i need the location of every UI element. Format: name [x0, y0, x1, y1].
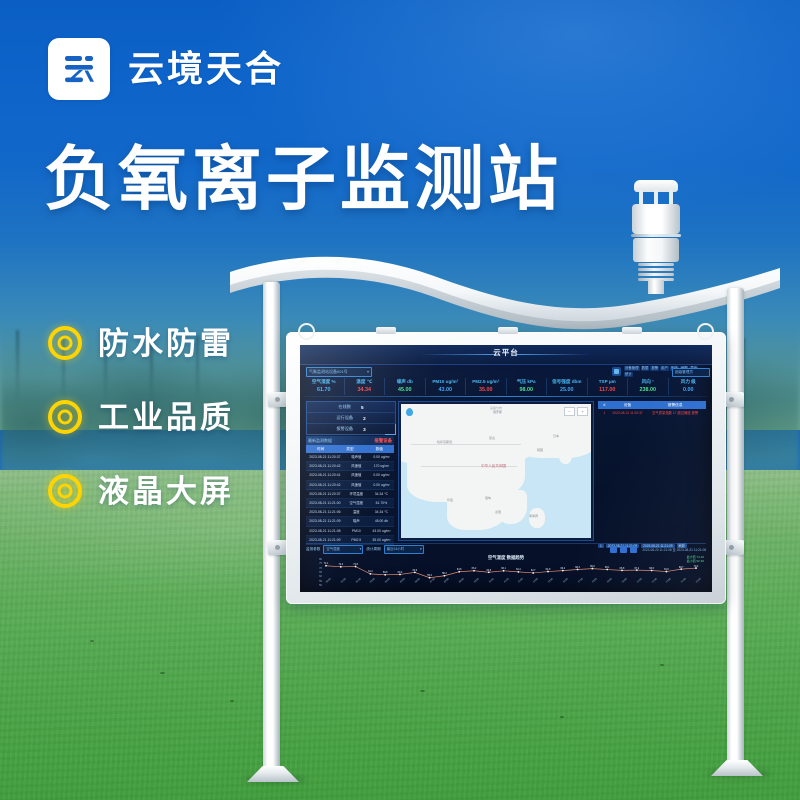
table-cell: 2023-08-21 11:20:41: [306, 471, 344, 479]
column-header: 时间: [306, 445, 335, 453]
alarm-table-body[interactable]: 12023-08-21 11:20:37空气质量指数 17 超过阈值 报警: [598, 409, 706, 539]
metric-cell: 风力 级 0.00: [669, 378, 709, 395]
bezel-tab: [498, 327, 518, 334]
period-select-value: 最近24小时: [387, 547, 404, 551]
param-select-value: 空气湿度: [326, 547, 340, 551]
range-week-button[interactable]: [620, 546, 627, 553]
table-cell: 2023-08-21 11:21:09: [306, 517, 344, 525]
status-value: 2: [363, 416, 366, 421]
metric-value: 45.00: [385, 386, 425, 395]
bezel-tab: [622, 327, 642, 334]
point-value-label: 69.6: [590, 565, 595, 568]
dashboard-title: 云平台: [300, 347, 712, 358]
point-value-label: 59.8: [383, 571, 388, 574]
table-cell: 45.00 db: [369, 517, 394, 525]
corner-accent: [385, 424, 396, 435]
sensor-shield-fin: [638, 263, 674, 266]
table-cell: 61.70%: [369, 499, 394, 507]
point-value-label: 72.8: [353, 563, 358, 566]
account-select[interactable]: 超级管理员: [672, 368, 710, 377]
bezel-tab: [376, 327, 396, 334]
table-row[interactable]: 2023-08-21 11:20:41风速值0.00 ug/m³: [306, 471, 394, 480]
station-select[interactable]: 气象监测站设备001号 ▾: [306, 367, 372, 377]
left-table-header: 时间 类型 数值: [306, 445, 394, 453]
table-cell: 170 ug/m³: [369, 462, 394, 470]
metric-label: 噪声 db: [385, 378, 425, 386]
support-post-right: [727, 288, 744, 774]
map-region-label: 蒙古: [489, 436, 495, 440]
point-value-label: 58.3: [442, 572, 447, 575]
monitoring-station-kiosk: 云平台 气象监测站设备001号 ▾ 设备管理 数据 报警 用户 系统 地图 导出…: [0, 0, 800, 800]
table-cell: 噪声值: [344, 453, 369, 461]
status-label: 在线数: [338, 404, 351, 410]
metric-label: 风向 °: [628, 378, 668, 386]
map-pin-icon[interactable]: [406, 408, 413, 416]
table-row[interactable]: 2023-08-21 11:21:08PM1043.00 ug/m³: [306, 527, 394, 536]
product-poster: 云境天合 负氧离子监测站 防水防雷 工业品质 液晶大屏: [0, 0, 800, 800]
map-region-label: 日本: [553, 434, 559, 438]
map-region-label: 韩国: [537, 448, 543, 452]
chart-stat-min: 最小值 52.30: [687, 559, 704, 563]
point-value-label: 64.4: [516, 568, 521, 571]
chart-plot-area: [322, 560, 700, 582]
header-chip[interactable]: 报警: [650, 366, 659, 371]
range-day-button[interactable]: [610, 546, 617, 553]
table-cell: 空气湿度: [344, 499, 369, 507]
status-label: 报警设备: [336, 426, 353, 432]
metric-cell: TSP μm 117.00: [588, 378, 629, 395]
zoom-in-button[interactable]: +: [577, 407, 588, 416]
metric-label: 温度 ℃: [345, 378, 385, 386]
alarm-cell: 空气质量指数 17 超过阈值 报警: [644, 409, 706, 417]
base-footing: [711, 760, 763, 776]
table-cell: 34.34 ℃: [369, 508, 394, 516]
metric-label: 气压 kPa: [507, 378, 547, 386]
period-select[interactable]: 最近24小时 ▾: [384, 545, 424, 554]
status-row: 运行设备 2: [307, 413, 395, 424]
table-cell: 2023-08-21 11:21:08: [306, 527, 344, 535]
table-row[interactable]: 2023-08-21 11:20:37噪声值0.00 ug/m³: [306, 453, 394, 462]
ultrasonic-weather-sensor: [628, 180, 684, 288]
table-cell: 2023-08-21 11:20:42: [306, 481, 344, 489]
metric-label: 风力 级: [669, 378, 709, 386]
metric-value: 98.00: [507, 386, 547, 395]
zoom-out-button[interactable]: −: [564, 407, 575, 416]
point-value-label: 68.1: [605, 566, 610, 569]
header-chip[interactable]: 数据: [641, 366, 650, 371]
point-value-label: 68.7: [679, 566, 684, 569]
chevron-down-icon: ▾: [367, 368, 369, 376]
table-cell: 2023-08-21 11:20:37: [306, 490, 344, 498]
metric-value: 117.00: [588, 386, 628, 395]
point-value-label: 64.9: [546, 568, 551, 571]
table-cell: 34.34 ℃: [369, 490, 394, 498]
chart-x-axis: 00:0001:0002:0003:0004:0005:0006:0007:00…: [322, 582, 700, 589]
chart-range-text: 2023-08-20 11:21:08 至 2023-08-21 11:21:0…: [642, 547, 706, 552]
left-table-body[interactable]: 2023-08-21 11:20:37噪声值0.00 ug/m³2023-08-…: [306, 453, 394, 545]
metric-value: 0.00: [669, 386, 709, 395]
point-value-label: 63.8: [486, 569, 491, 572]
column-header: 类型: [335, 445, 364, 453]
period-label: 统计周期: [366, 547, 380, 552]
status-value: 5: [361, 405, 364, 410]
metric-label: PM10 ug/m³: [426, 378, 466, 386]
table-cell: 风速值: [344, 462, 369, 470]
metric-label: TSP μm: [588, 378, 628, 386]
map-region-label: 哈萨克斯坦: [437, 440, 452, 444]
left-table-title: 最新监测数据: [308, 438, 332, 444]
metric-label: PM2.5 ug/m³: [466, 378, 506, 386]
param-label: 监测参数: [306, 547, 320, 552]
column-header: 数值: [365, 445, 394, 453]
table-cell: 0.00 ug/m³: [369, 471, 394, 479]
left-table-caption: 最新监测数据 报警设备: [306, 436, 394, 445]
status-label: 运行设备: [336, 415, 353, 421]
map-region-label: 菲律宾: [529, 514, 538, 518]
table-cell: 温度: [344, 508, 369, 516]
table-cell: 环境温度: [344, 490, 369, 498]
bezel-hook-icon: [298, 323, 315, 340]
header-chip[interactable]: 统计: [624, 372, 633, 377]
metric-cell: 信号强度 dbm 25.00: [547, 378, 588, 395]
table-cell: 风速值: [344, 481, 369, 489]
map-country-label: 中华人民共和国: [481, 464, 506, 469]
point-value-label: 67.2: [634, 567, 639, 570]
point-value-label: 66.8: [620, 567, 625, 570]
table-cell: 0.00 ug/m³: [369, 453, 394, 461]
metric-cell: 噪声 db 45.00: [385, 378, 426, 395]
chevron-down-icon: ▾: [420, 546, 422, 553]
dashboard-screen[interactable]: 云平台 气象监测站设备001号 ▾ 设备管理 数据 报警 用户 系统 地图 导出…: [300, 345, 712, 592]
point-value-label: 66.4: [560, 567, 565, 570]
table-row[interactable]: 2023-08-21 11:20:42风速值170 ug/m³: [306, 462, 394, 471]
table-row[interactable]: 2023-08-21 11:20:42风速值0.00 ug/m³: [306, 481, 394, 490]
map-region-label: 印度: [447, 498, 453, 502]
station-select-value: 气象监测站设备001号: [309, 369, 348, 374]
table-row[interactable]: 2023-08-21 11:21:06温度34.34 ℃: [306, 508, 394, 517]
metric-label: 空气湿度 %: [304, 378, 344, 386]
point-value-label: 55.2: [427, 574, 432, 577]
table-cell: 噪声: [344, 517, 369, 525]
chart-y-axis: 80757065605550: [312, 558, 322, 584]
table-row[interactable]: 2023-08-21 11:21:09噪声45.00 db: [306, 517, 394, 526]
alarm-badge: 报警设备: [374, 438, 392, 444]
sensor-ring: [631, 234, 681, 237]
point-value-label: 66.1: [501, 567, 506, 570]
metric-cell: 气压 kPa 98.00: [507, 378, 548, 395]
metric-value: 61.70: [304, 386, 344, 395]
metric-label: 信号强度 dbm: [547, 378, 587, 386]
status-row: 在线数 5: [307, 402, 395, 413]
point-value-label: 66.6: [649, 567, 654, 570]
alarm-table-header: # 设备 报警信息: [598, 401, 706, 409]
point-value-label: 74.1: [324, 562, 329, 565]
metric-value: 238.00: [628, 386, 668, 395]
table-cell: 2023-08-21 11:20:37: [306, 453, 344, 461]
column-header: 报警信息: [644, 401, 706, 409]
point-value-label: 68.2: [575, 566, 580, 569]
map-border-line: [411, 444, 521, 445]
point-value-label: 72.4: [338, 563, 343, 566]
map-region-label: 泰国: [495, 510, 501, 514]
alarm-cell: 2023-08-21 11:20:37: [611, 409, 644, 417]
table-cell: 2023-08-21 11:21:00: [306, 499, 344, 507]
metric-value: 35.00: [466, 386, 506, 395]
table-cell: PM10: [344, 527, 369, 535]
landmass: [497, 490, 527, 524]
trend-chart-panel: 监测参数 空气湿度 ▾ 统计周期 最近24小时 ▾ 2023-08-20 11:…: [306, 543, 706, 589]
table-cell: 2023-08-21 11:21:06: [306, 508, 344, 516]
landmass: [529, 508, 545, 528]
point-value-label: 64.6: [457, 568, 462, 571]
metric-value: 25.00: [547, 386, 587, 395]
status-row: 报警设备 3: [307, 424, 395, 434]
column-header: 设备: [611, 401, 644, 409]
base-footing: [247, 766, 299, 782]
sensor-shield-fin: [638, 268, 674, 271]
user-icon[interactable]: [612, 367, 621, 376]
support-post-left: [263, 282, 280, 774]
point-value-label: 66.2: [472, 567, 477, 570]
range-month-button[interactable]: [630, 546, 637, 553]
map-canvas[interactable]: 设备分布 中华人民共和国 蒙古 哈萨克斯坦 俄罗斯 印度 缅甸 泰国 日本 韩国…: [401, 404, 591, 538]
metric-cell: PM2.5 ug/m³ 35.00: [466, 378, 507, 395]
chevron-down-icon: ▾: [360, 546, 362, 553]
bezel-hook-icon: [697, 323, 714, 340]
metric-value: 43.00: [426, 386, 466, 395]
metric-cell: 空气湿度 % 61.70: [304, 378, 345, 395]
table-cell: 2023-08-21 11:20:42: [306, 462, 344, 470]
table-row[interactable]: 2023-08-21 11:21:00空气湿度61.70%: [306, 499, 394, 508]
alarm-cell: 1: [598, 409, 611, 417]
point-value-label: 62.7: [531, 569, 536, 572]
header-chip[interactable]: 用户: [660, 366, 669, 371]
sensor-stem: [648, 280, 664, 294]
point-value-label: 61.2: [368, 570, 373, 573]
metric-cell: 风向 ° 238.00: [628, 378, 669, 395]
status-value: 3: [363, 427, 366, 432]
table-cell: 0.00 ug/m³: [369, 481, 394, 489]
table-cell: 43.00 ug/m³: [369, 527, 394, 535]
metric-value: 34.34: [345, 386, 385, 395]
table-row[interactable]: 2023-08-21 11:20:37环境温度34.34 ℃: [306, 490, 394, 499]
column-header: #: [598, 401, 611, 409]
point-value-label: 63.6: [412, 569, 417, 572]
metric-cell: PM10 ug/m³ 43.00: [426, 378, 467, 395]
metric-strip: 空气湿度 % 61.70 温度 ℃ 34.34 噪声 db 45.00 PM10…: [304, 378, 708, 395]
chart-toolbar[interactable]: 监测参数 空气湿度 ▾ 统计周期 最近24小时 ▾ 2023-08-20 11:…: [306, 545, 706, 554]
point-value-label: 64.9: [664, 568, 669, 571]
map-zoom-controls[interactable]: − +: [564, 407, 588, 416]
metric-divider: [304, 396, 708, 397]
account-select-value: 超级管理员: [675, 370, 693, 374]
map-region-label: 缅甸: [485, 496, 491, 500]
point-value-label: 60.4: [398, 571, 403, 574]
device-map-panel[interactable]: 设备分布 中华人民共和国 蒙古 哈萨克斯坦 俄罗斯 印度 缅甸 泰国 日本 韩国…: [398, 401, 594, 541]
metric-cell: 温度 ℃ 34.34: [345, 378, 386, 395]
sensor-shield-fin: [638, 273, 674, 276]
alarm-row[interactable]: 12023-08-21 11:20:37空气质量指数 17 超过阈值 报警: [598, 409, 706, 417]
header-chip[interactable]: 设备管理: [624, 366, 640, 371]
status-summary-box: 在线数 5 运行设备 2 报警设备 3: [306, 401, 396, 435]
table-cell: 风速值: [344, 471, 369, 479]
landmass: [559, 446, 572, 464]
map-region-label: 俄罗斯: [493, 410, 502, 414]
sensor-body-lower: [633, 238, 679, 262]
sensor-body-upper: [632, 204, 680, 234]
point-value-label: 70.4: [694, 565, 699, 568]
param-select[interactable]: 空气湿度 ▾: [323, 545, 363, 554]
